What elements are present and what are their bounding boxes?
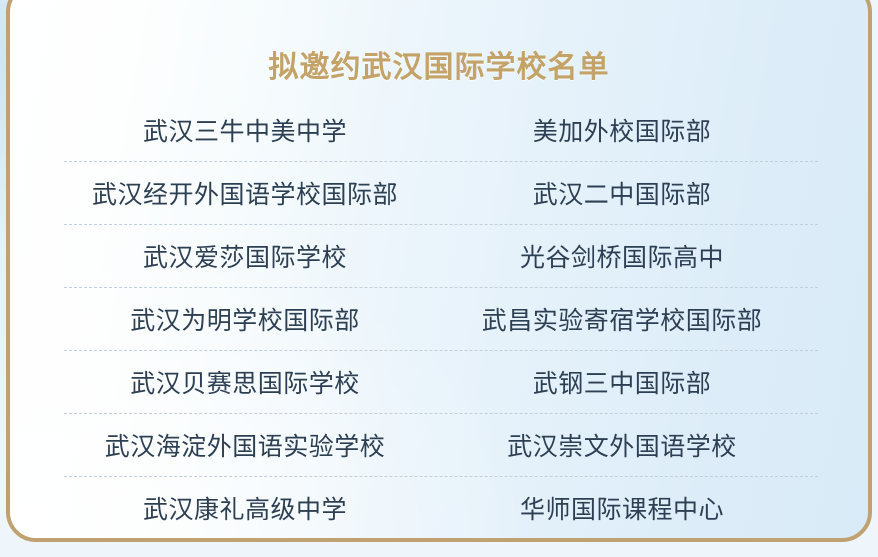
table-row: 武汉三牛中美中学 美加外校国际部 (64, 99, 818, 162)
school-name-cell: 武汉贝赛思国际学校 (64, 364, 426, 400)
school-name-cell: 武汉三牛中美中学 (64, 112, 426, 148)
school-name-cell: 武汉康礼高级中学 (64, 490, 426, 526)
school-name-cell: 武汉为明学校国际部 (64, 301, 426, 337)
table-row: 武汉经开外国语学校国际部 武汉二中国际部 (64, 162, 818, 225)
school-name-cell: 武昌实验寄宿学校国际部 (426, 301, 818, 337)
school-name-cell: 武钢三中国际部 (426, 364, 818, 400)
table-row: 武汉海淀外国语实验学校 武汉崇文外国语学校 (64, 414, 818, 477)
table-row: 武汉爱莎国际学校 光谷剑桥国际高中 (64, 225, 818, 288)
school-name-cell: 武汉经开外国语学校国际部 (64, 175, 426, 211)
school-list-card: 拟邀约武汉国际学校名单 武汉三牛中美中学 美加外校国际部 武汉经开外国语学校国际… (6, 0, 872, 542)
school-name-cell: 武汉崇文外国语学校 (426, 427, 818, 463)
table-row: 武汉康礼高级中学 华师国际课程中心 (64, 477, 818, 539)
page-title: 拟邀约武汉国际学校名单 (10, 42, 868, 86)
school-name-cell: 武汉爱莎国际学校 (64, 238, 426, 274)
school-name-cell: 美加外校国际部 (426, 112, 818, 148)
table-row: 武汉贝赛思国际学校 武钢三中国际部 (64, 351, 818, 414)
school-name-cell: 光谷剑桥国际高中 (426, 238, 818, 274)
school-list-table: 武汉三牛中美中学 美加外校国际部 武汉经开外国语学校国际部 武汉二中国际部 武汉… (64, 99, 818, 539)
school-name-cell: 华师国际课程中心 (426, 490, 818, 526)
page-background: 拟邀约武汉国际学校名单 武汉三牛中美中学 美加外校国际部 武汉经开外国语学校国际… (0, 0, 878, 557)
table-row: 武汉为明学校国际部 武昌实验寄宿学校国际部 (64, 288, 818, 351)
school-name-cell: 武汉海淀外国语实验学校 (64, 427, 426, 463)
card-inner: 拟邀约武汉国际学校名单 武汉三牛中美中学 美加外校国际部 武汉经开外国语学校国际… (10, 0, 868, 538)
school-name-cell: 武汉二中国际部 (426, 175, 818, 211)
